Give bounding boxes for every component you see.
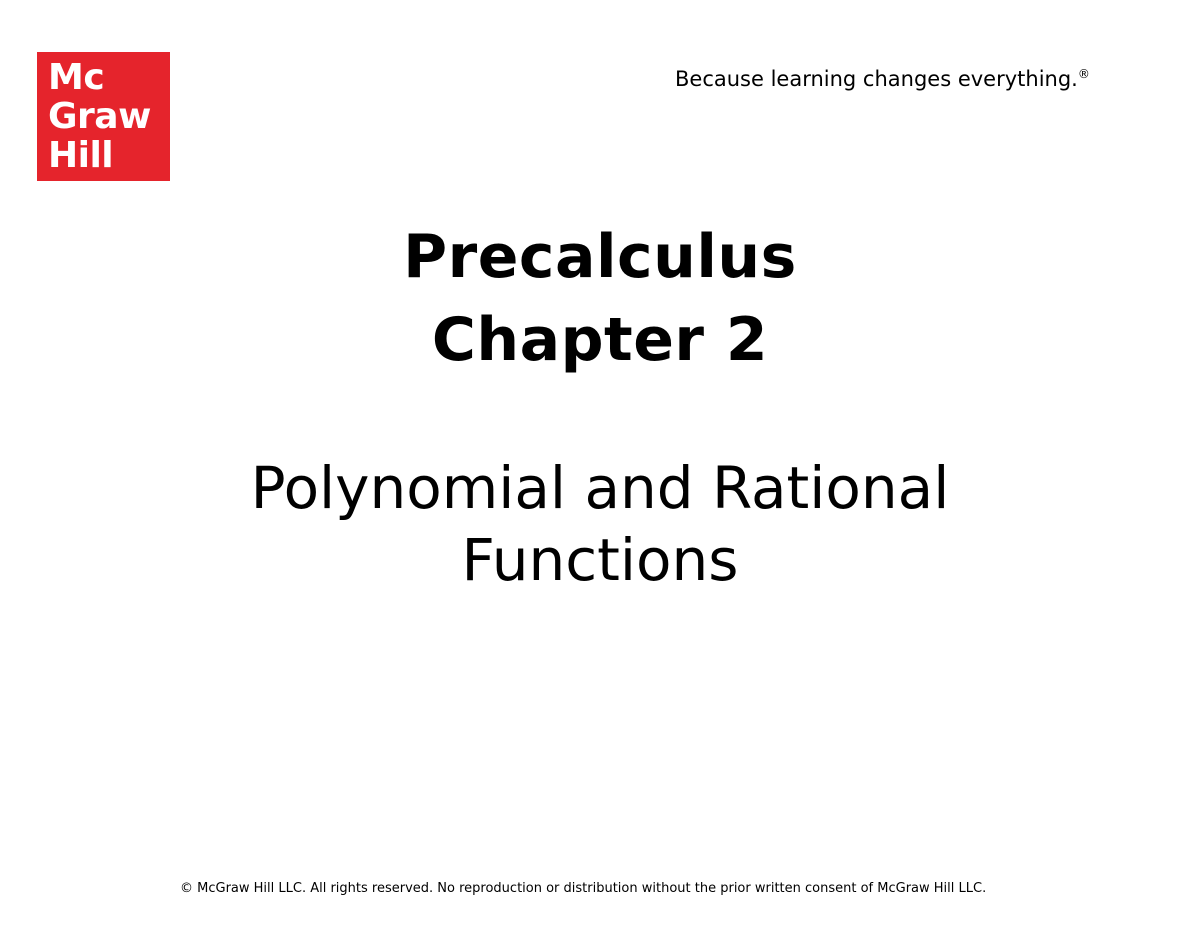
title-slide: Mc Graw Hill Because learning changes ev… [0, 0, 1200, 927]
page-subtitle: Polynomial and Rational Functions [0, 452, 1200, 596]
brand-tagline: Because learning changes everything.® [675, 66, 1090, 92]
subtitle-line-two: Functions [0, 524, 1200, 596]
page-title: Precalculus Chapter 2 [0, 216, 1200, 382]
mcgraw-hill-logo: Mc Graw Hill [37, 52, 170, 181]
logo-line-hill: Hill [48, 136, 170, 175]
logo-line-graw: Graw [48, 97, 170, 136]
tagline-text: Because learning changes everything. [675, 67, 1078, 91]
title-line-course: Precalculus [0, 216, 1200, 299]
copyright-notice: © McGraw Hill LLC. All rights reserved. … [180, 880, 986, 898]
logo-line-mc: Mc [48, 58, 170, 97]
subtitle-line-one: Polynomial and Rational [0, 452, 1200, 524]
title-line-chapter: Chapter 2 [0, 299, 1200, 382]
registered-trademark-icon: ® [1078, 67, 1090, 81]
